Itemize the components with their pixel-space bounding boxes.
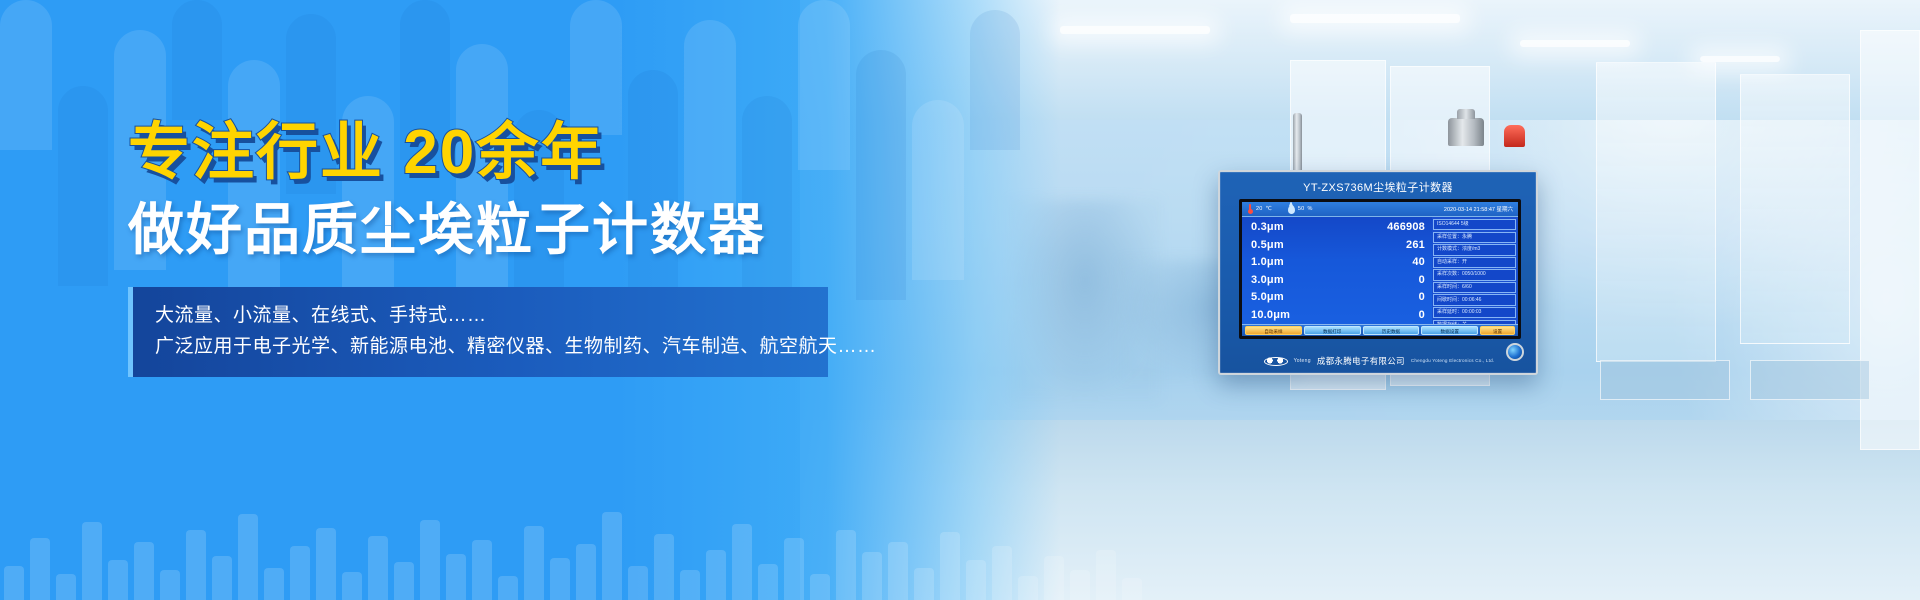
device-screen[interactable]: 20 ℃ 50 % 2020-03-14 21:58:47 星期六 0.3μm … [1239,199,1521,339]
channel-row: 0.5μm 261 [1251,240,1425,251]
yoteng-logo-icon [1262,354,1288,367]
info-row: 采样延时：00:00:03 [1433,307,1516,318]
measurement-info-panel: ISO14644 5级 采样位置：永腾 计数模式：浓度/m3 自动采样：开 采样… [1432,217,1518,339]
cleanroom-door [1596,62,1716,362]
floor-vent [1750,360,1870,400]
info-row: 采样位置：永腾 [1433,232,1516,243]
humidity-value: 50 [1298,206,1305,212]
power-indicator[interactable] [1506,343,1524,361]
channel-row: 10.0μm 0 [1251,310,1425,321]
print-data-button[interactable]: 数据打印 [1304,326,1361,335]
screen-button-bar: 自动采样 数据打印 历史数据 数据设置 设置 [1242,324,1518,336]
ceiling-lamp [1290,14,1460,23]
headline-secondary: 做好品质尘埃粒子计数器 [128,199,918,261]
info-row: 采样时间：6/60 [1433,282,1516,293]
water-drop-icon [1288,205,1295,214]
channel-row: 1.0μm 40 [1251,257,1425,268]
channel-count-list: 0.3μm 466908 0.5μm 261 1.0μm 40 3.0μm 0 [1242,217,1432,339]
info-row: ISO14644 5级 [1433,219,1516,230]
history-data-button[interactable]: 历史数据 [1363,326,1420,335]
humidity-readout: 50 % [1288,205,1313,214]
channel-count: 0 [1419,310,1425,321]
channel-size: 1.0μm [1251,257,1284,268]
screen-status-bar: 20 ℃ 50 % 2020-03-14 21:58:47 星期六 [1242,202,1518,217]
info-row: 间歇时间：00:06:46 [1433,294,1516,305]
channel-count: 261 [1406,240,1425,251]
channel-size: 0.5μm [1251,240,1284,251]
brand-name-en: Chengdu Yoteng Electronics Co., Ltd. [1411,358,1495,363]
ceiling-lamp [1060,26,1210,34]
particle-counter-device: YT-ZXS736M尘埃粒子计数器 20 ℃ 50 % 2020-03-14 2… [1218,170,1538,375]
channel-size: 3.0μm [1251,275,1284,286]
tagline-box: 大流量、小流量、在线式、手持式…… 广泛应用于电子光学、新能源电池、精密仪器、生… [128,287,828,378]
hero-banner: 专注行业 20余年 做好品质尘埃粒子计数器 大流量、小流量、在线式、手持式…… … [0,0,1920,600]
isokinetic-sampler-head [1448,118,1484,146]
headline-primary: 专注行业 20余年 [128,120,918,185]
channel-row: 5.0μm 0 [1251,292,1425,303]
ceiling-lamp [1520,40,1630,47]
hero-copy: 专注行业 20余年 做好品质尘埃粒子计数器 大流量、小流量、在线式、手持式…… … [128,120,918,377]
cleanroom-door [1740,74,1850,344]
sampling-probe [1293,113,1302,171]
device-branding: Yoteng 成都永腾电子有限公司 Chengdu Yoteng Electro… [1220,354,1536,367]
brand-name-cn: 成都永腾电子有限公司 [1317,355,1405,367]
humidity-unit: % [1307,206,1312,212]
channel-size: 10.0μm [1251,310,1290,321]
channel-size: 0.3μm [1251,222,1284,233]
bottom-bar-pattern [0,480,1150,600]
channel-size: 5.0μm [1251,292,1284,303]
auto-sample-button[interactable]: 自动采样 [1245,326,1302,335]
info-row: 自动采样：开 [1433,257,1516,268]
channel-count: 0 [1419,292,1425,303]
brand-logo-text: Yoteng [1294,358,1311,364]
datetime-readout: 2020-03-14 21:58:47 星期六 [1444,205,1513,213]
data-settings-button[interactable]: 数据设置 [1421,326,1478,335]
settings-button[interactable]: 设置 [1480,326,1515,335]
alarm-light [1504,125,1525,147]
temperature-value: 20 [1256,206,1263,212]
floor-vent [1600,360,1730,400]
tagline-line-1: 大流量、小流量、在线式、手持式…… [155,300,806,331]
temperature-readout: 20 ℃ [1247,204,1272,214]
screen-body: 0.3μm 466908 0.5μm 261 1.0μm 40 3.0μm 0 [1242,217,1518,339]
thermometer-icon [1247,204,1253,214]
temperature-unit: ℃ [1266,206,1272,212]
channel-count: 0 [1419,275,1425,286]
info-row: 计数模式：浓度/m3 [1433,244,1516,255]
channel-row: 3.0μm 0 [1251,275,1425,286]
device-model-title: YT-ZXS736M尘埃粒子计数器 [1220,179,1536,195]
info-row: 采样次数：0050/1000 [1433,269,1516,280]
channel-count: 40 [1412,257,1425,268]
tagline-line-2: 广泛应用于电子光学、新能源电池、精密仪器、生物制药、汽车制造、航空航天…… [155,331,806,362]
channel-count: 466908 [1387,222,1425,233]
channel-row: 0.3μm 466908 [1251,222,1425,233]
